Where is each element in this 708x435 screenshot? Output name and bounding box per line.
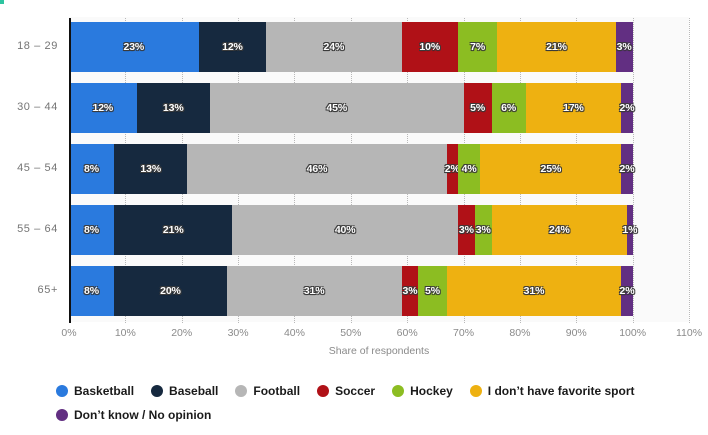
bar-segment[interactable]: 24% [266, 22, 401, 72]
legend-label: Baseball [169, 384, 218, 398]
bar-segment-label: 3% [459, 224, 474, 236]
bar-segment[interactable]: 3% [475, 205, 492, 255]
bar-segment-label: 21% [163, 224, 184, 236]
bar-segment-label: 8% [84, 285, 99, 297]
bar-segment-label: 3% [402, 285, 417, 297]
bar-segment[interactable]: 3% [616, 22, 633, 72]
legend-swatch-icon [470, 385, 482, 397]
bar-segment[interactable]: 13% [137, 83, 210, 133]
bar-segment-label: 8% [84, 224, 99, 236]
bar-segment[interactable]: 40% [232, 205, 457, 255]
bar-segment-label: 12% [92, 102, 113, 114]
bar-segment[interactable]: 12% [199, 22, 267, 72]
bar-segment-label: 12% [222, 41, 243, 53]
legend-swatch-icon [235, 385, 247, 397]
x-tick-label: 40% [264, 327, 324, 339]
bar-segment-label: 3% [476, 224, 491, 236]
plot-area: 23%12%24%10%7%21%3%12%13%45%5%6%17%2%8%1… [69, 18, 689, 323]
legend-label: Football [253, 384, 300, 398]
x-tick-label: 0% [39, 327, 99, 339]
gridline [689, 18, 691, 323]
bar-segment[interactable]: 21% [114, 205, 232, 255]
bar-segment[interactable]: 8% [69, 144, 114, 194]
bar-segment[interactable]: 5% [464, 83, 492, 133]
legend-item[interactable]: Baseball [151, 383, 218, 399]
bar-segment[interactable]: 5% [418, 266, 446, 316]
bar-segment[interactable]: 2% [621, 144, 632, 194]
legend-swatch-icon [392, 385, 404, 397]
x-tick-label: 110% [659, 327, 708, 339]
legend-swatch-icon [317, 385, 329, 397]
bar-segment-label: 21% [546, 41, 567, 53]
bar-segment-label: 24% [324, 41, 345, 53]
legend-item[interactable]: I don’t have favorite sport [470, 383, 635, 399]
bar-segment[interactable]: 2% [621, 83, 632, 133]
legend-label: Soccer [335, 384, 375, 398]
bar-segment-label: 5% [425, 285, 440, 297]
y-axis-line [69, 18, 71, 323]
bar-segment-label: 40% [335, 224, 356, 236]
bar-segment-label: 13% [163, 102, 184, 114]
x-tick-label: 80% [490, 327, 550, 339]
legend-item[interactable]: Don’t know / No opinion [56, 407, 211, 423]
bar-segment[interactable]: 23% [69, 22, 199, 72]
legend-swatch-icon [56, 385, 68, 397]
x-tick-label: 50% [321, 327, 381, 339]
legend-label: Hockey [410, 384, 453, 398]
bar-segment-label: 2% [620, 102, 635, 114]
bar-segment-label: 31% [304, 285, 325, 297]
x-tick-label: 60% [377, 327, 437, 339]
bar-segment-label: 23% [123, 41, 144, 53]
bar-segment[interactable]: 10% [402, 22, 458, 72]
bar-segment[interactable]: 8% [69, 205, 114, 255]
category-label: 55 – 64 [0, 223, 58, 235]
bar-segment-label: 3% [617, 41, 632, 53]
bar-segment[interactable]: 13% [114, 144, 187, 194]
bar-segment-label: 25% [541, 163, 562, 175]
bar-segment[interactable]: 31% [447, 266, 622, 316]
bar-segment-label: 31% [524, 285, 545, 297]
stacked-bar-chart: 23%12%24%10%7%21%3%12%13%45%5%6%17%2%8%1… [0, 0, 708, 435]
bar-segment[interactable]: 1% [627, 205, 633, 255]
bar-segment[interactable]: 7% [458, 22, 497, 72]
bar-segment[interactable]: 45% [210, 83, 464, 133]
category-label: 30 – 44 [0, 101, 58, 113]
bar-segment[interactable]: 21% [497, 22, 615, 72]
bar-segment[interactable]: 2% [621, 266, 632, 316]
bar-segment[interactable]: 31% [227, 266, 402, 316]
bar-segment[interactable]: 4% [458, 144, 481, 194]
legend-swatch-icon [151, 385, 163, 397]
bar-segment[interactable]: 8% [69, 266, 114, 316]
bar-segment-label: 5% [470, 102, 485, 114]
bar-segment[interactable]: 17% [526, 83, 622, 133]
bar-segment[interactable]: 24% [492, 205, 627, 255]
bar-segment[interactable]: 12% [69, 83, 137, 133]
chart-legend: BasketballBaseballFootballSoccerHockeyI … [56, 383, 696, 431]
legend-label: Don’t know / No opinion [74, 408, 211, 422]
x-tick-label: 90% [546, 327, 606, 339]
legend-item[interactable]: Basketball [56, 383, 134, 399]
bar-segment[interactable]: 25% [480, 144, 621, 194]
gridline [633, 18, 635, 323]
bar-segment-label: 45% [326, 102, 347, 114]
category-label: 18 – 29 [0, 40, 58, 52]
bar-segment-label: 8% [84, 163, 99, 175]
x-tick-label: 70% [434, 327, 494, 339]
bar-segment-label: 6% [501, 102, 516, 114]
legend-item[interactable]: Football [235, 383, 300, 399]
bar-segment[interactable]: 6% [492, 83, 526, 133]
category-label: 45 – 54 [0, 162, 58, 174]
x-tick-label: 30% [208, 327, 268, 339]
bar-segment-label: 24% [549, 224, 570, 236]
bar-segment-label: 20% [160, 285, 181, 297]
category-label: 65+ [0, 284, 58, 296]
bar-segment-label: 13% [140, 163, 161, 175]
bar-segment-label: 4% [462, 163, 477, 175]
bar-segment[interactable]: 3% [402, 266, 419, 316]
legend-item[interactable]: Hockey [392, 383, 453, 399]
bar-segment-label: 7% [470, 41, 485, 53]
bar-segment[interactable]: 3% [458, 205, 475, 255]
bar-segment[interactable]: 46% [187, 144, 446, 194]
x-axis-title: Share of respondents [69, 345, 689, 357]
bar-segment-label: 2% [620, 285, 635, 297]
legend-swatch-icon [56, 409, 68, 421]
bar-segment[interactable]: 20% [114, 266, 227, 316]
bar-segment-label: 2% [620, 163, 635, 175]
bar-segment-label: 10% [419, 41, 440, 53]
bar-segment-label: 17% [563, 102, 584, 114]
corner-marker [0, 0, 4, 4]
bar-segment[interactable]: 2% [447, 144, 458, 194]
legend-label: I don’t have favorite sport [488, 384, 635, 398]
legend-item[interactable]: Soccer [317, 383, 375, 399]
bar-segment-label: 46% [307, 163, 328, 175]
x-tick-label: 10% [95, 327, 155, 339]
legend-label: Basketball [74, 384, 134, 398]
x-tick-label: 100% [603, 327, 663, 339]
x-tick-label: 20% [152, 327, 212, 339]
